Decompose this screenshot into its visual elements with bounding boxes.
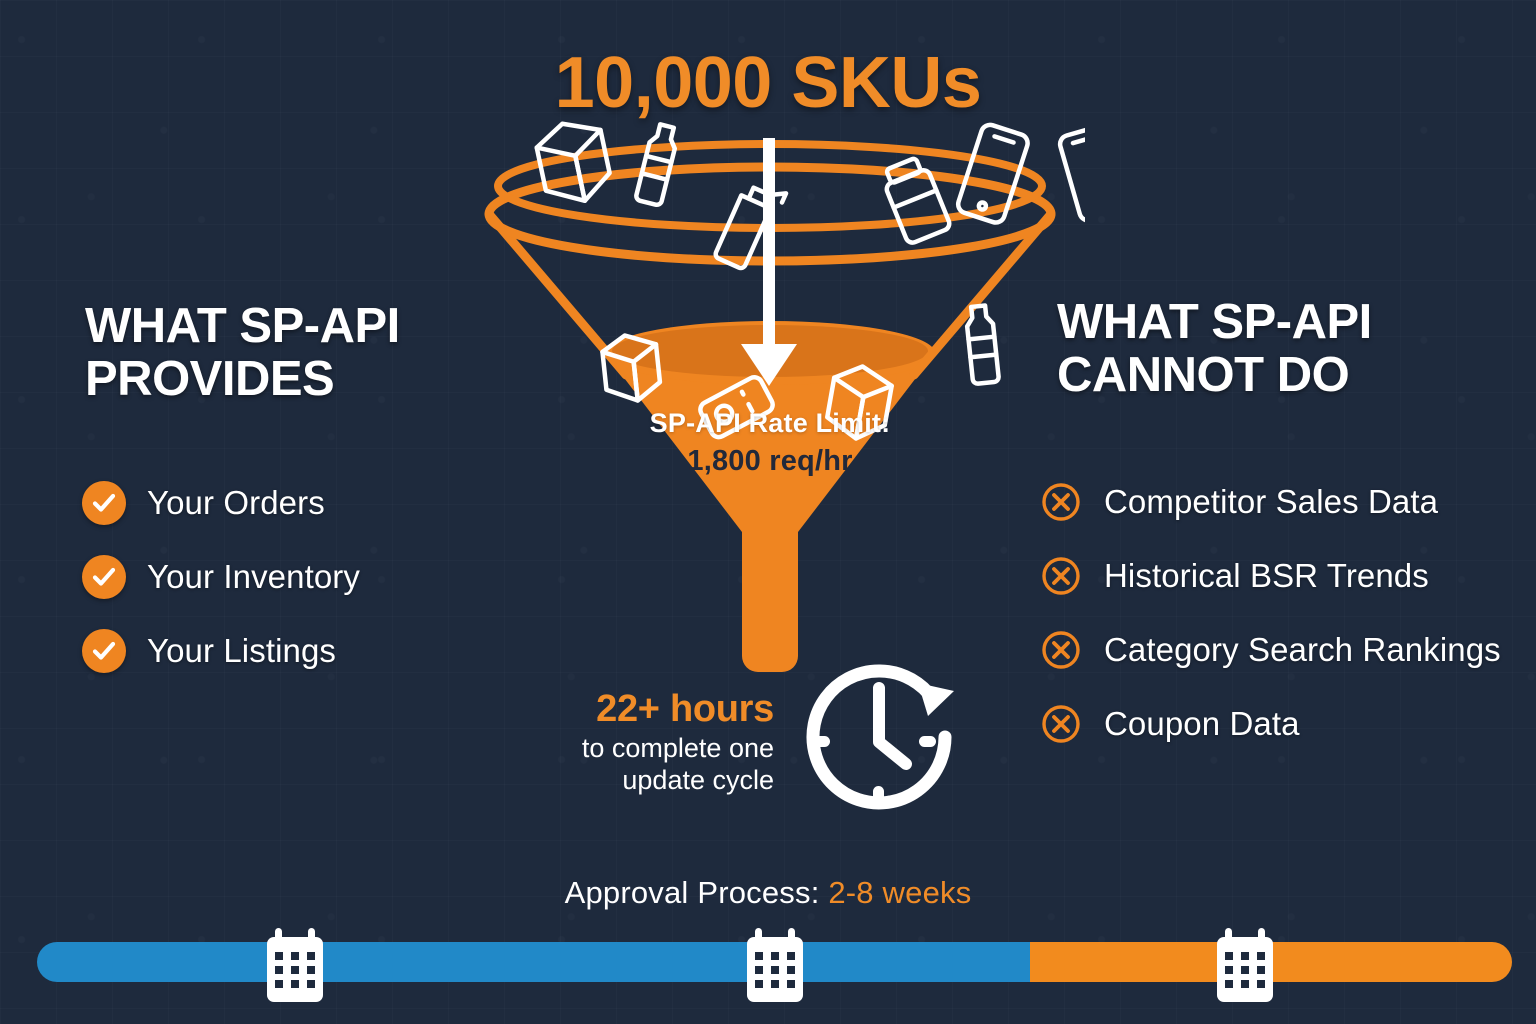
check-circle-icon xyxy=(82,555,126,599)
x-circle-icon xyxy=(1040,629,1082,671)
right-heading-line1: WHAT SP-API xyxy=(1057,296,1507,349)
calendar-icon[interactable] xyxy=(1217,928,1273,1002)
approval-duration: 2-8 weeks xyxy=(828,875,971,910)
left-column-heading: WHAT SP-API PROVIDES xyxy=(85,300,515,406)
clock-refresh-icon xyxy=(792,655,967,830)
right-heading-line2: CANNOT DO xyxy=(1057,349,1507,402)
list-item[interactable]: Category Search Rankings xyxy=(1040,613,1501,687)
list-item[interactable]: Coupon Data xyxy=(1040,687,1501,761)
check-circle-icon xyxy=(82,481,126,525)
duration-caption: to complete one update cycle xyxy=(548,733,774,797)
list-item[interactable]: Your Inventory xyxy=(82,540,360,614)
list-item-label: Your Inventory xyxy=(147,558,360,596)
calendar-icon[interactable] xyxy=(267,928,323,1002)
page-title: 10,000 SKUs xyxy=(0,42,1536,124)
x-circle-icon xyxy=(1040,481,1082,523)
list-item[interactable]: Competitor Sales Data xyxy=(1040,465,1501,539)
cannot-do-list: Competitor Sales Data Historical BSR Tre… xyxy=(1040,465,1501,761)
list-item-label: Your Listings xyxy=(147,632,336,670)
list-item-label: Category Search Rankings xyxy=(1104,631,1501,669)
duration-caption-line2: update cycle xyxy=(548,765,774,797)
funnel-diagram: SP-API Rate Limit: 1,800 req/hr xyxy=(455,120,1085,690)
x-circle-icon xyxy=(1040,703,1082,745)
duration-block: 22+ hours to complete one update cycle xyxy=(548,690,774,797)
duration-caption-line1: to complete one xyxy=(548,733,774,765)
left-heading-line1: WHAT SP-API xyxy=(85,300,515,353)
left-heading-line2: PROVIDES xyxy=(85,353,515,406)
list-item-label: Historical BSR Trends xyxy=(1104,557,1429,595)
provides-list: Your Orders Your Inventory Your Listings xyxy=(82,466,360,688)
list-item[interactable]: Your Listings xyxy=(82,614,360,688)
funnel-svg xyxy=(455,120,1085,690)
timeline-bar xyxy=(0,920,1536,1024)
list-item-label: Coupon Data xyxy=(1104,705,1300,743)
approval-process-label: Approval Process: 2-8 weeks xyxy=(0,875,1536,911)
duration-value: 22+ hours xyxy=(548,690,774,730)
x-circle-icon xyxy=(1040,555,1082,597)
right-column-heading: WHAT SP-API CANNOT DO xyxy=(1057,296,1507,402)
list-item[interactable]: Historical BSR Trends xyxy=(1040,539,1501,613)
check-circle-icon xyxy=(82,629,126,673)
approval-prefix: Approval Process: xyxy=(565,875,829,910)
list-item-label: Competitor Sales Data xyxy=(1104,483,1438,521)
list-item[interactable]: Your Orders xyxy=(82,466,360,540)
list-item-label: Your Orders xyxy=(147,484,325,522)
calendar-icon[interactable] xyxy=(747,928,803,1002)
timeline-segment-blue xyxy=(37,942,1030,982)
